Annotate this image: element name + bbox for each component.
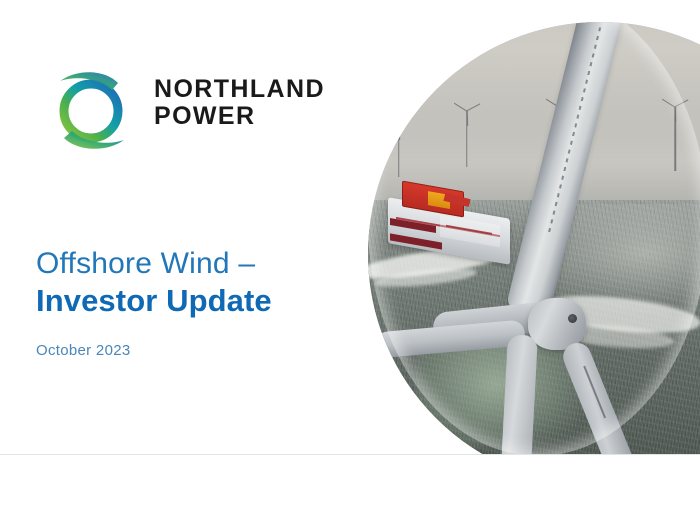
footer-area — [0, 455, 700, 524]
slide-date: October 2023 — [36, 342, 131, 359]
distant-turbine — [460, 111, 474, 167]
offshore-wind-farm-photo — [368, 0, 700, 456]
photo-canvas — [368, 0, 700, 456]
logo-wordmark-line1: NORTHLAND — [154, 75, 325, 103]
title-slide: NORTHLAND POWER Offshore Wind – Investor… — [0, 0, 700, 524]
installation-vessel — [388, 186, 514, 258]
title-line-1: Offshore Wind – — [36, 246, 356, 282]
page-title: Offshore Wind – Investor Update — [36, 246, 356, 320]
distant-turbine — [667, 107, 683, 171]
distant-turbine — [392, 125, 406, 177]
footer-divider — [0, 454, 700, 455]
swoosh-ring-icon — [36, 64, 144, 154]
title-line-2: Investor Update — [36, 282, 356, 320]
logo-wordmark-line2: POWER — [154, 103, 325, 130]
northland-power-logo: NORTHLAND POWER — [36, 62, 316, 154]
logo-wordmark: NORTHLAND POWER — [154, 76, 325, 130]
